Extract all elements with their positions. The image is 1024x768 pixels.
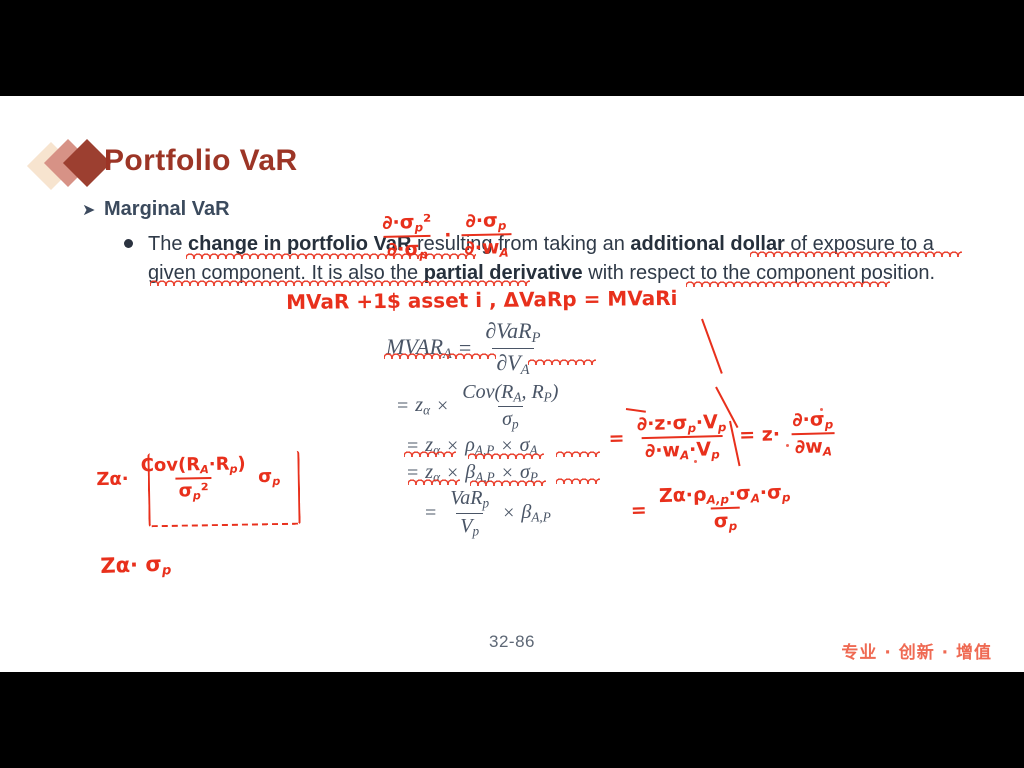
letterbox-top [0, 0, 1024, 96]
bullet-dot-icon [124, 239, 133, 248]
formula-line-2: = zα × Cov(RA, RP) σp [386, 381, 646, 433]
slide-stage: Portfolio VaR ➤ Marginal VaR The change … [0, 0, 1024, 768]
ink-underline-mvar-a [384, 352, 496, 359]
ink-annotation-left-zsigma: Zα· σp [100, 552, 172, 581]
section-heading: Marginal VaR [104, 198, 230, 221]
ink-underline-z-alpha-2 [408, 478, 460, 485]
ink-annotation-mvar-note: MVaR +1$ asset i , ΔVaRp = MVaRi [286, 286, 678, 314]
formula-line-5: = VaRp Vp × βA,P [386, 487, 646, 539]
ink-underline-change-in-portfolio-var [186, 252, 476, 259]
ink-stray-stroke-2 [701, 319, 723, 374]
ink-annotation-left-fraction: Zα· Cov(RA·Rp)σp² σp [96, 453, 281, 504]
ink-underline-partial-derivative [686, 280, 890, 287]
ink-underline-additional-dollar [750, 250, 962, 257]
arrow-bullet-icon: ➤ [82, 203, 95, 219]
letterbox-bottom [0, 672, 1024, 768]
slide-canvas: Portfolio VaR ➤ Marginal VaR The change … [0, 96, 1024, 672]
ink-underline-sigma-a [556, 450, 600, 457]
ink-underline-denominator-va [528, 358, 596, 365]
formula-line-1: MVARA = ∂VaRP ∂VA [386, 318, 646, 379]
ink-dot-2 [820, 408, 823, 411]
ink-annotation-right-rho: = Zα·ρA,p·σA·σpσp [630, 481, 798, 537]
ink-dot-3 [694, 460, 697, 463]
ink-annotation-right-derivative: = ∂·z·σp·Vp∂·wA·Vp = z· ∂·σp∂wA [608, 408, 840, 465]
ink-underline-beta-ap [470, 479, 546, 486]
ink-underline-sigma-p [556, 477, 600, 484]
ink-underline-exposure-component [150, 279, 530, 286]
ink-underline-z-alpha-1 [404, 450, 456, 457]
ink-underline-rho-ap [468, 452, 544, 459]
page-title: Portfolio VaR [104, 144, 298, 178]
ink-dot-1 [786, 444, 789, 447]
brand-tagline: 专业 · 创新 · 增值 [841, 638, 992, 663]
